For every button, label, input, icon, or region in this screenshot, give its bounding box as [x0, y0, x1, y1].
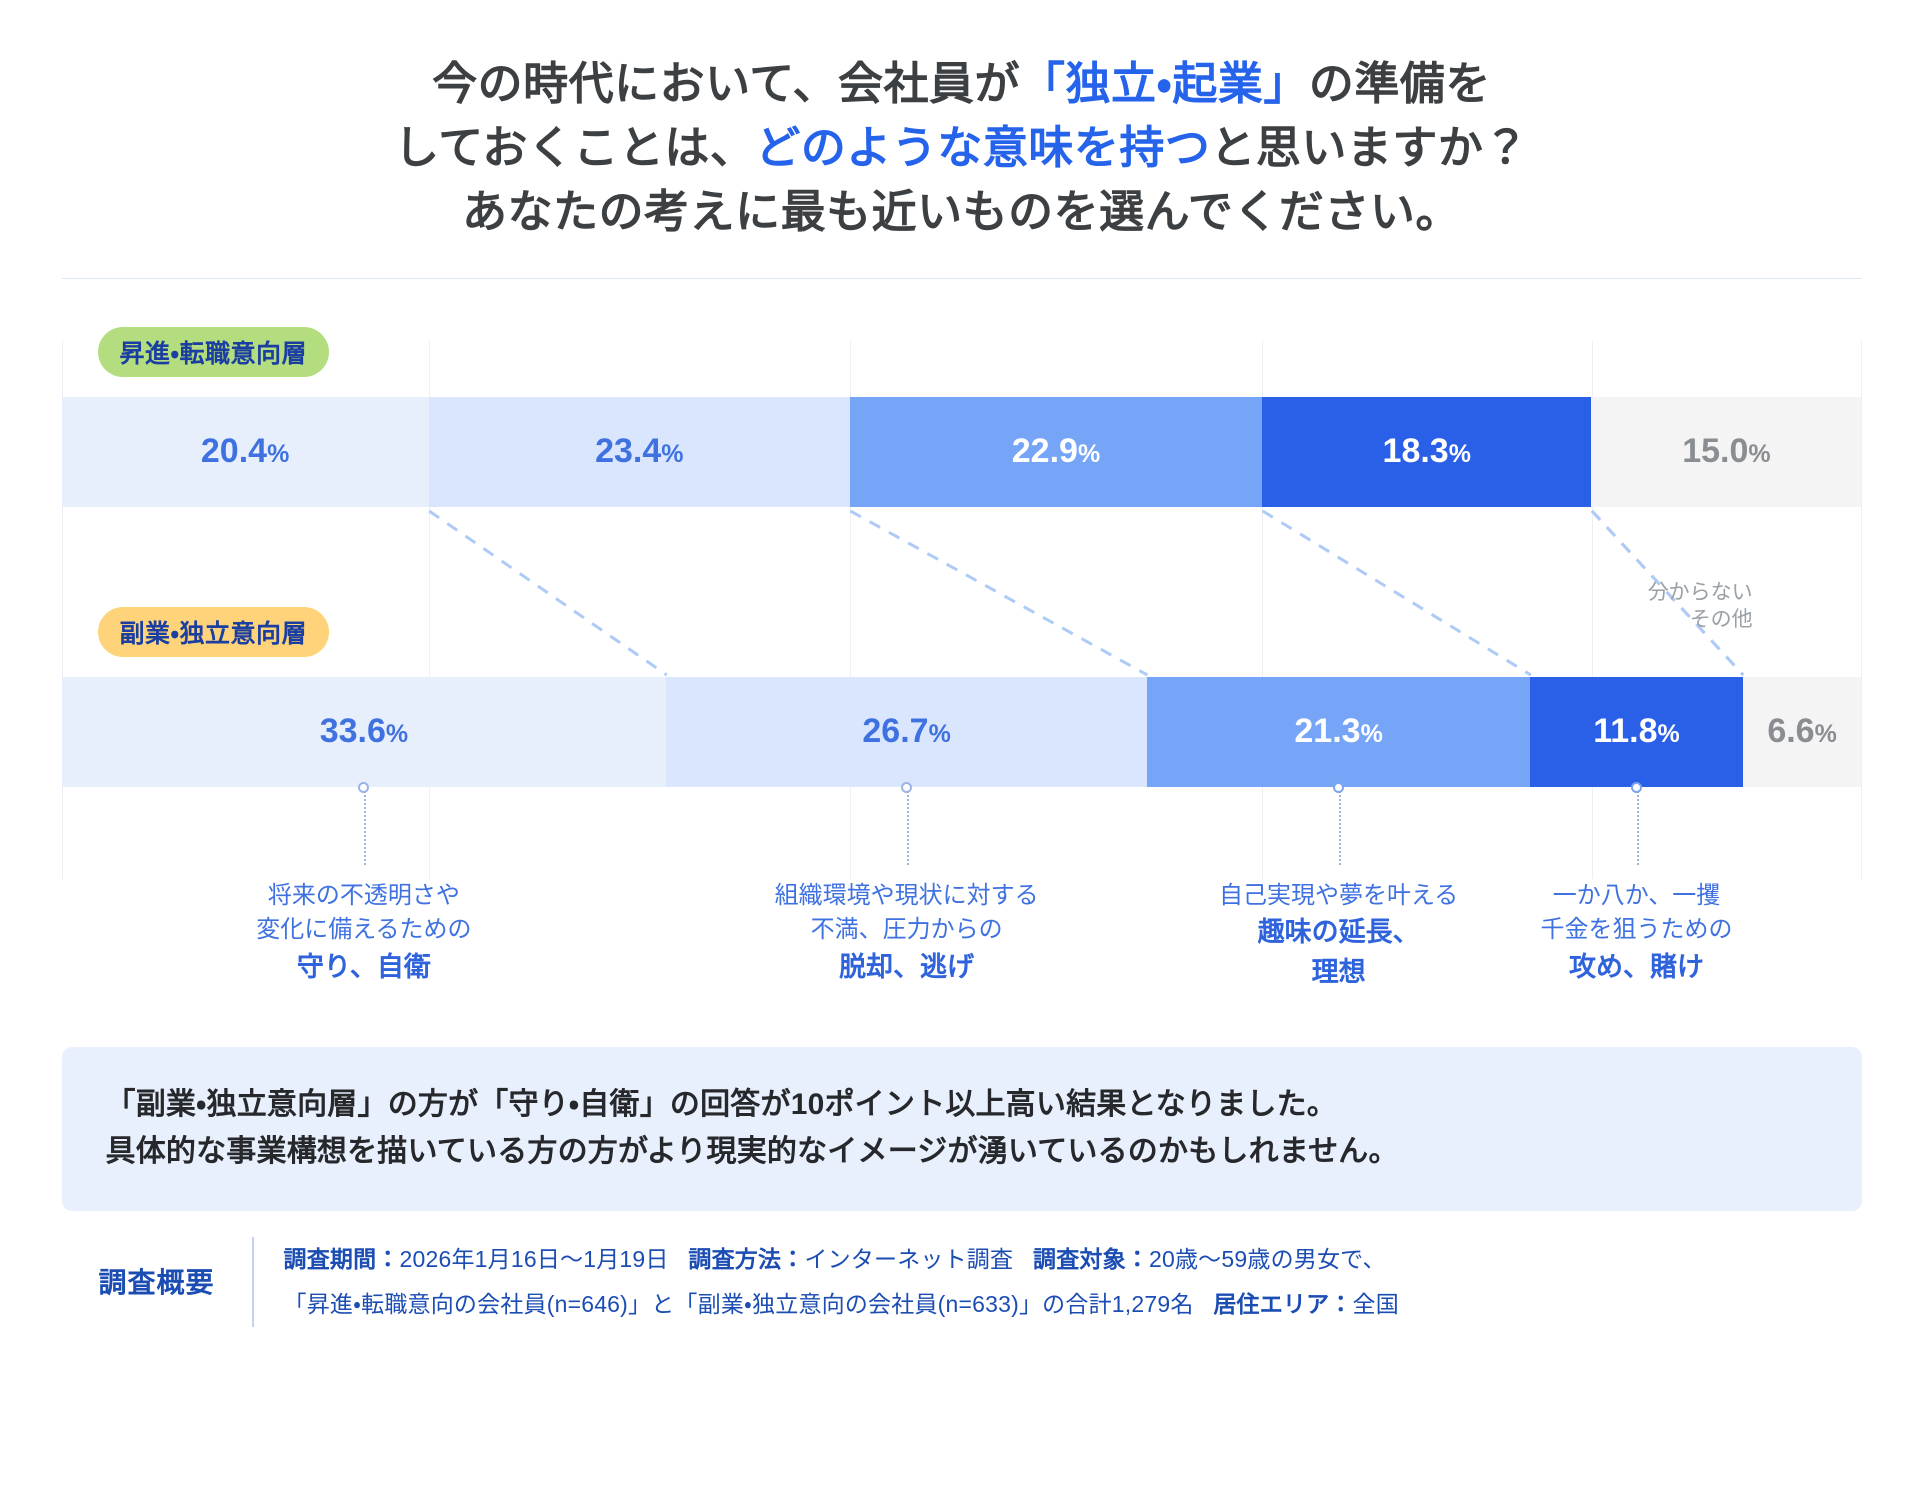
survey-overview: 調査概要 調査期間：2026年1月16日〜1月19日 調査方法：インターネット調…	[62, 1237, 1862, 1327]
title-line-1: 今の時代において、会社員が「独立・起業」の準備を	[0, 52, 1923, 116]
survey-target-value: 20歳〜59歳の男女で、	[1149, 1246, 1386, 1272]
bar-row-group2: 33.6%26.7%21.3%11.8%6.6%	[62, 677, 1862, 787]
title-text-1c: の準備を	[1309, 58, 1491, 109]
category-label-strong: 理想	[1179, 953, 1499, 992]
survey-row-2: 「昇進・転職意向の会社員(n=646)」と「副業・独立意向の会社員(n=633)…	[284, 1282, 1399, 1327]
bar-segment-value: 26.7%	[862, 712, 950, 751]
dont-know-line-2: その他	[1593, 606, 1753, 633]
legend-badge-group1: 昇進・転職意向層	[98, 327, 330, 377]
legend-badge-group1-label: 昇進・転職意向層	[120, 334, 308, 370]
category-label-line: 一か八か、一攫	[1477, 879, 1797, 914]
survey-area-value: 全国	[1353, 1291, 1399, 1317]
survey-period-value: 2026年1月16日〜1月19日	[400, 1246, 669, 1272]
bar-segment: 20.4%	[62, 397, 429, 507]
bar-row-group1: 20.4%23.4%22.9%18.3%15.0%	[62, 397, 1862, 507]
title-highlight-2: どのような意味を持つ	[755, 122, 1210, 173]
category-label-line: 変化に備えるための	[204, 913, 524, 948]
bar-segment: 18.3%	[1262, 397, 1591, 507]
bar-segment: 33.6%	[62, 677, 667, 787]
bar-segment: 15.0%	[1591, 397, 1861, 507]
leader-line	[907, 787, 909, 865]
stacked-bar-chart: 昇進・転職意向層 副業・独立意向層 分からない その他 20.4%23.4%22…	[62, 279, 1862, 879]
bar-segment-value: 22.9%	[1012, 432, 1100, 471]
category-label: 一か八か、一攫千金を狙うための攻め、賭け	[1477, 879, 1797, 988]
title-text-1a: 今の時代において、会社員が	[432, 58, 1020, 109]
category-label-line: 将来の不透明さや	[204, 879, 524, 914]
bar-segment-value: 6.6%	[1767, 712, 1837, 751]
summary-line-2: 具体的な事業構想を描いている方の方がより現実的なイメージが湧いているのかもしれま…	[106, 1128, 1818, 1175]
category-label-line: 組織環境や現状に対する	[747, 879, 1067, 914]
bar-segment-value: 20.4%	[201, 432, 289, 471]
bar-segment: 11.8%	[1530, 677, 1742, 787]
category-label-strong: 守り、自衛	[204, 948, 524, 987]
leader-line	[1637, 787, 1639, 865]
bar-segment-value: 15.0%	[1682, 432, 1770, 471]
bar-segment: 23.4%	[429, 397, 850, 507]
bar-segment-value: 23.4%	[595, 432, 683, 471]
bar-segment: 21.3%	[1147, 677, 1530, 787]
bar-segment-value: 21.3%	[1294, 712, 1382, 751]
bar-segment: 6.6%	[1743, 677, 1862, 787]
survey-period-label: 調査期間：	[284, 1246, 400, 1272]
category-label-line: 不満、圧力からの	[747, 913, 1067, 948]
survey-target-label: 調査対象：	[1033, 1246, 1149, 1272]
legend-badge-group2-label: 副業・独立意向層	[120, 614, 308, 650]
survey-area-label: 居住エリア：	[1213, 1291, 1352, 1317]
title-highlight-1: 「独立・起業」	[1020, 58, 1309, 109]
title-text-2c: と思いますか？	[1210, 122, 1529, 173]
bar-segment-value: 33.6%	[320, 712, 408, 751]
page-title: 今の時代において、会社員が「独立・起業」の準備を しておくことは、どのような意味…	[0, 0, 1923, 244]
summary-callout: 「副業・独立意向層」の方が「守り・自衛」の回答が10ポイント以上高い結果となりま…	[62, 1047, 1862, 1212]
leader-dot	[1631, 782, 1642, 793]
survey-overview-body: 調査期間：2026年1月16日〜1月19日 調査方法：インターネット調査 調査対…	[252, 1237, 1399, 1327]
bar-segment-value: 11.8%	[1593, 712, 1680, 751]
dont-know-line-1: 分からない	[1593, 579, 1753, 606]
category-labels: 将来の不透明さや変化に備えるための守り、自衛組織環境や現状に対する不満、圧力から…	[62, 879, 1862, 1029]
bar-segment-value: 18.3%	[1383, 432, 1471, 471]
category-label-strong: 趣味の延長、	[1179, 913, 1499, 952]
bar-segment: 22.9%	[850, 397, 1262, 507]
chart-gridlines	[62, 279, 1862, 879]
survey-method-label: 調査方法：	[688, 1246, 804, 1272]
legend-badge-group2: 副業・独立意向層	[98, 607, 330, 657]
category-label: 将来の不透明さや変化に備えるための守り、自衛	[204, 879, 524, 988]
leader-line	[1339, 787, 1341, 865]
category-label-line: 自己実現や夢を叶える	[1179, 879, 1499, 914]
category-label: 組織環境や現状に対する不満、圧力からの脱却、逃げ	[747, 879, 1067, 988]
title-text-2a: しておくことは、	[394, 122, 755, 173]
survey-sample-value: 「昇進・転職意向の会社員(n=646)」と「副業・独立意向の会社員(n=633)…	[284, 1291, 1194, 1317]
leader-line	[364, 787, 366, 865]
survey-overview-heading: 調査概要	[62, 1237, 252, 1301]
leader-dot	[1333, 782, 1344, 793]
survey-row-1: 調査期間：2026年1月16日〜1月19日 調査方法：インターネット調査 調査対…	[284, 1237, 1399, 1282]
leader-dot	[901, 782, 912, 793]
summary-line-1: 「副業・独立意向層」の方が「守り・自衛」の回答が10ポイント以上高い結果となりま…	[106, 1081, 1818, 1128]
bar-segment: 26.7%	[666, 677, 1147, 787]
category-label-strong: 攻め、賭け	[1477, 948, 1797, 987]
category-label-strong: 脱却、逃げ	[747, 948, 1067, 987]
category-label: 自己実現や夢を叶える趣味の延長、理想	[1179, 879, 1499, 992]
category-label-line: 千金を狙うための	[1477, 913, 1797, 948]
title-line-3: あなたの考えに最も近いものを選んでください。	[0, 180, 1923, 244]
dont-know-annotation: 分からない その他	[1593, 579, 1753, 634]
survey-method-value: インターネット調査	[804, 1246, 1013, 1272]
title-line-2: しておくことは、どのような意味を持つと思いますか？	[0, 116, 1923, 180]
